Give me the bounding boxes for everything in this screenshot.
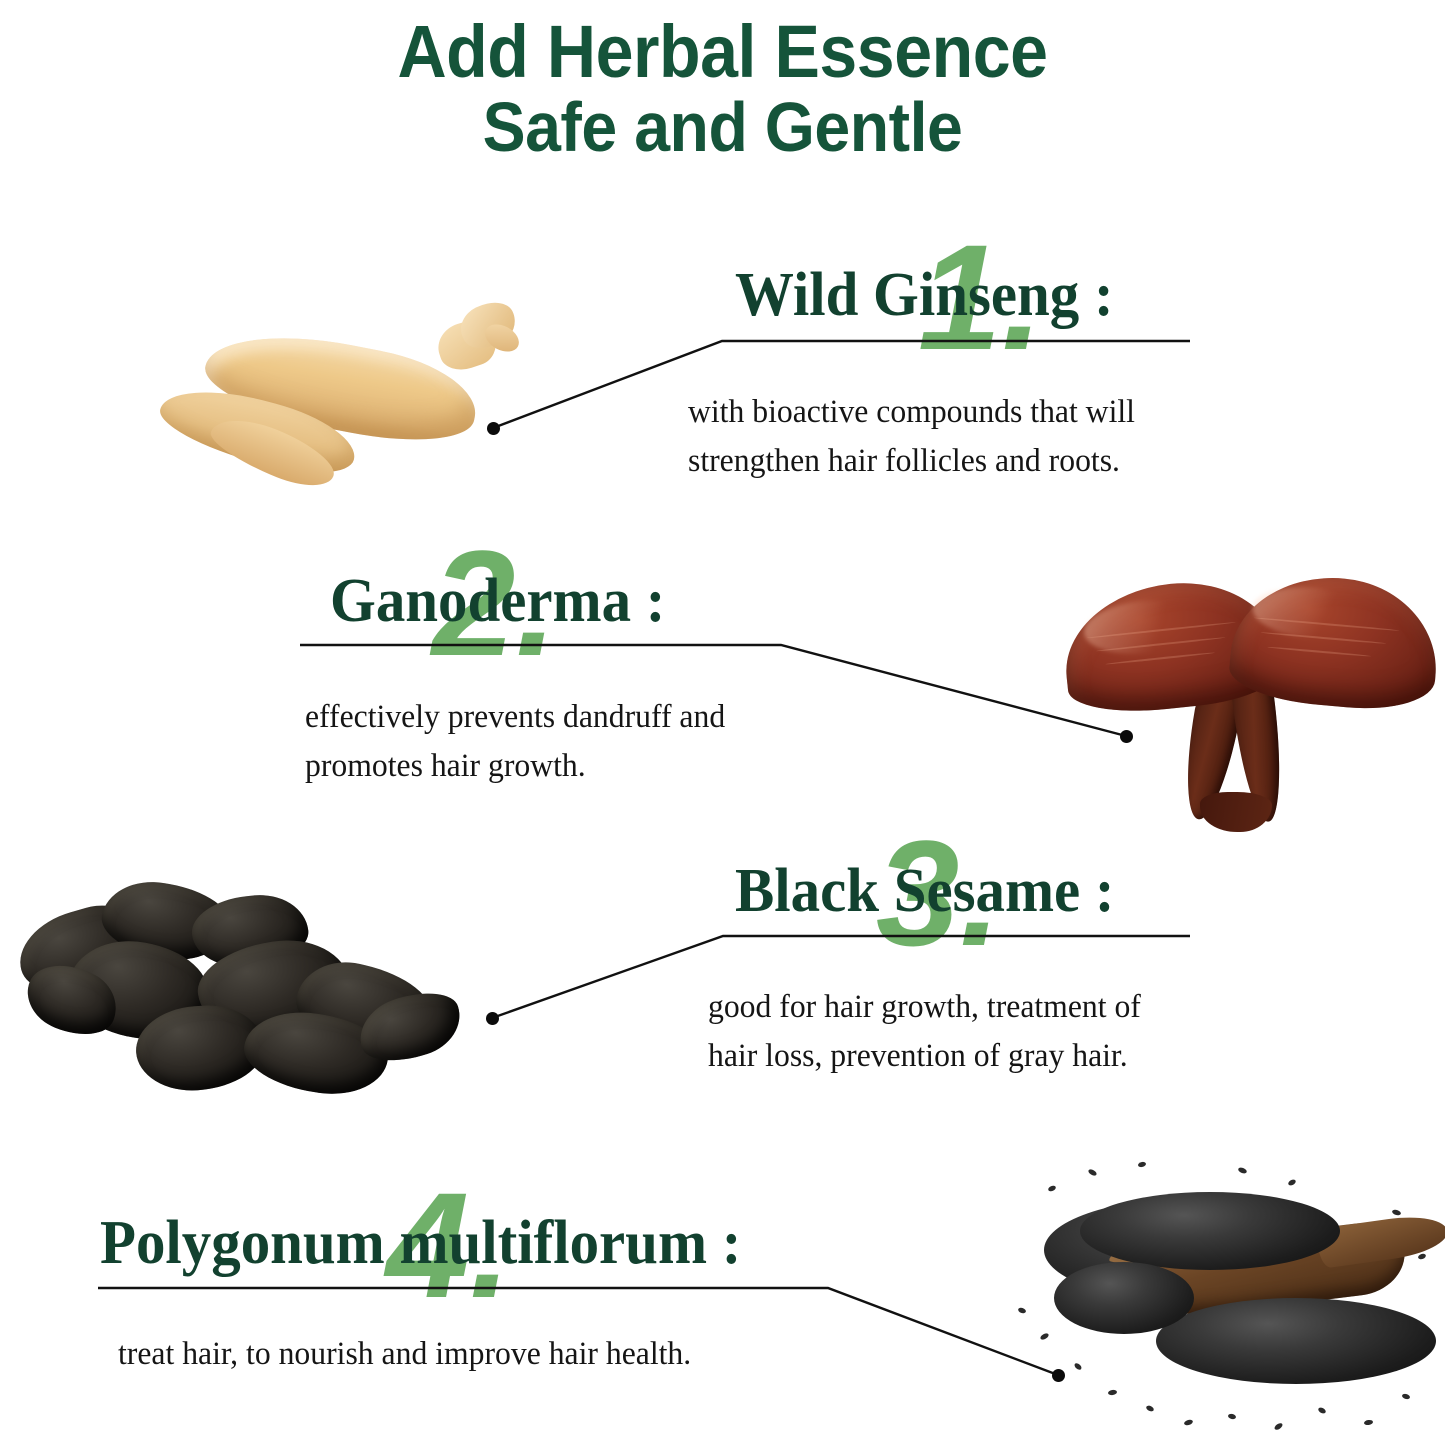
black-sesame-seeds-scoop-image (988, 1158, 1445, 1445)
ingredient-heading-2: Ganoderma : (330, 570, 665, 632)
page-title-line-1: Add Herbal Essence (58, 14, 1387, 91)
sesame-heap-lower (1156, 1298, 1436, 1384)
polygonum-slices-image (6, 856, 476, 1108)
ingredient-description-3: good for hair growth, treatment of hair … (708, 983, 1226, 1081)
sesame-heap-in-scoop (1080, 1192, 1340, 1270)
ingredient-description-1: with bioactive compounds that will stren… (688, 388, 1206, 486)
page-title-line-2: Safe and Gentle (58, 91, 1387, 164)
connector-dot-4 (1052, 1369, 1065, 1382)
connector-dot-1 (487, 422, 500, 435)
sesame-heap-left (1054, 1262, 1194, 1334)
connector-dot-2 (1120, 730, 1133, 743)
connector-dot-3 (486, 1012, 499, 1025)
ingredient-description-2: effectively prevents dandruff and promot… (305, 693, 823, 791)
ingredient-heading-3: Black Sesame : (735, 860, 1115, 922)
wild-ginseng-root-image (8, 292, 528, 520)
ingredient-heading-4: Polygonum multiflorum : (100, 1212, 741, 1274)
page-title: Add Herbal Essence Safe and Gentle (0, 14, 1445, 164)
infographic-canvas: Add Herbal Essence Safe and Gentle (0, 0, 1445, 1445)
reishi-stem-base (1200, 792, 1272, 832)
ingredient-heading-1: Wild Ginseng : (735, 264, 1114, 326)
ganoderma-reishi-mushroom-image (1052, 552, 1444, 830)
ingredient-description-4: treat hair, to nourish and improve hair … (118, 1330, 848, 1379)
